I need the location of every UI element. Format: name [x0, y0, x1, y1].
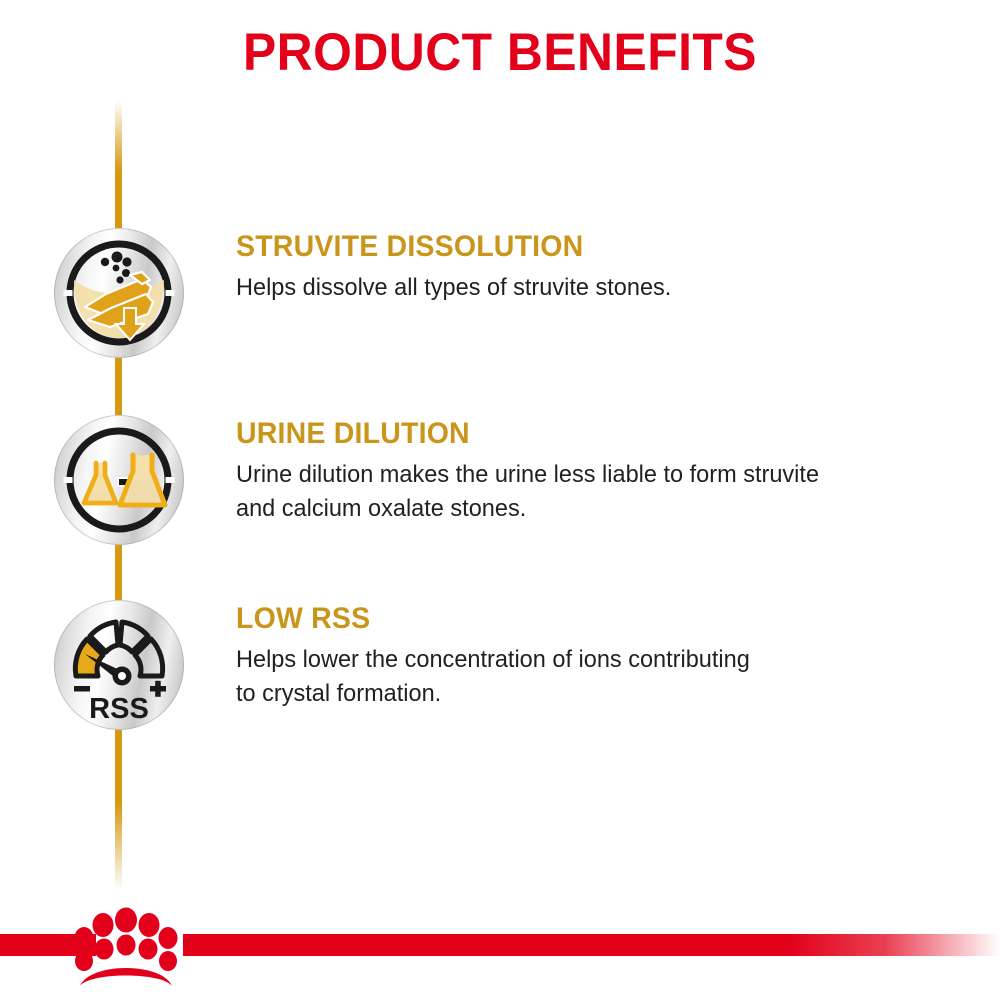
footer: [0, 904, 1000, 1000]
benefit-body-line: and calcium oxalate stones.: [236, 492, 946, 526]
gauge-center-label: RSS: [89, 693, 149, 725]
two-flasks-dilution-icon: [54, 415, 184, 545]
benefit-text-block: URINE DILUTION Urine dilution makes the …: [236, 417, 976, 526]
benefit-text-block: STRUVITE DISSOLUTION Helps dissolve all …: [236, 230, 976, 305]
struvite-icon-artwork: [54, 228, 184, 358]
benefit-heading: LOW RSS: [236, 602, 939, 636]
benefit-body-line: Helps dissolve all types of struvite sto…: [236, 271, 946, 305]
royal-canin-crown-logo: [66, 904, 186, 1000]
page-title: PRODUCT BENEFITS: [30, 22, 970, 83]
benefit-body: Helps lower the concentration of ions co…: [236, 643, 946, 711]
benefit-body-line: Helps lower the concentration of ions co…: [236, 643, 946, 677]
benefit-body-line: Urine dilution makes the urine less liab…: [236, 458, 946, 492]
benefit-text-block: LOW RSS Helps lower the concentration of…: [236, 602, 976, 711]
benefit-heading: URINE DILUTION: [236, 417, 939, 451]
rss-gauge-icon: RSS: [54, 600, 184, 730]
benefit-body-line: to crystal formation.: [236, 677, 946, 711]
benefit-heading: STRUVITE DISSOLUTION: [236, 230, 939, 264]
benefit-body: Helps dissolve all types of struvite sto…: [236, 271, 946, 305]
benefit-body: Urine dilution makes the urine less liab…: [236, 458, 946, 526]
flasks-icon-artwork: [54, 415, 184, 545]
struvite-crystal-dissolving-icon: [54, 228, 184, 358]
footer-bar-right: [183, 934, 1000, 956]
gauge-icon-artwork: RSS: [54, 600, 184, 730]
product-benefits-page: PRODUCT BENEFITS: [0, 0, 1000, 1000]
